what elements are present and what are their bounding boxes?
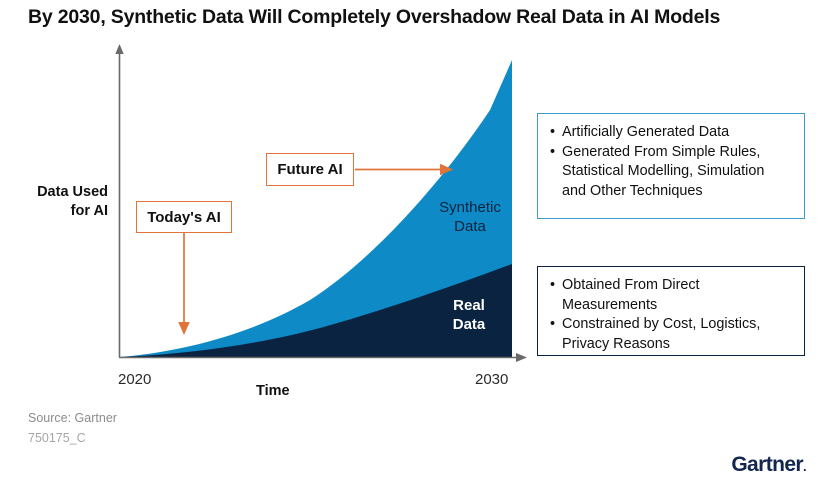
legend-box-real-data: Obtained From Direct Measurements Constr… bbox=[537, 266, 805, 356]
gartner-logo-dot: . bbox=[803, 459, 806, 474]
legend-item: Artificially Generated Data bbox=[550, 123, 792, 143]
series-label-synthetic: Synthetic Data bbox=[430, 198, 510, 236]
callout-future-ai: Future AI bbox=[266, 153, 354, 186]
callout-todays-ai-label: Today's AI bbox=[147, 209, 221, 226]
x-axis-arrowhead bbox=[516, 353, 527, 362]
series-label-real-line1: Real bbox=[432, 296, 506, 315]
callout-future-ai-label: Future AI bbox=[277, 161, 342, 178]
series-label-real: Real Data bbox=[432, 296, 506, 334]
gartner-logo-text: Gartner bbox=[731, 453, 803, 476]
x-tick-2020: 2020 bbox=[118, 371, 151, 388]
legend-box-synthetic-data: Artificially Generated Data Generated Fr… bbox=[537, 113, 805, 219]
callout-todays-ai: Today's AI bbox=[136, 201, 232, 233]
y-axis-label: Data Used for AI bbox=[6, 183, 108, 221]
x-axis-label: Time bbox=[256, 383, 290, 399]
x-tick-2030: 2030 bbox=[475, 371, 508, 388]
source-attribution: Source: Gartner bbox=[28, 411, 117, 425]
legend-item: Generated From Simple Rules, Statistical… bbox=[550, 143, 792, 202]
todays-ai-arrowhead bbox=[178, 322, 190, 335]
legend-item: Constrained by Cost, Logistics, Privacy … bbox=[550, 315, 792, 354]
y-axis-arrowhead bbox=[115, 44, 123, 54]
series-label-synthetic-line1: Synthetic bbox=[430, 198, 510, 217]
legend-list-synthetic: Artificially Generated Data Generated Fr… bbox=[550, 123, 792, 201]
y-axis-label-line1: Data Used bbox=[6, 183, 108, 202]
series-label-real-line2: Data bbox=[432, 315, 506, 334]
legend-item: Obtained From Direct Measurements bbox=[550, 276, 792, 315]
document-id: 750175_C bbox=[28, 431, 86, 445]
legend-list-real: Obtained From Direct Measurements Constr… bbox=[550, 276, 792, 354]
series-label-synthetic-line2: Data bbox=[430, 217, 510, 236]
gartner-logo: Gartner. bbox=[731, 453, 806, 477]
y-axis-label-line2: for AI bbox=[6, 202, 108, 221]
